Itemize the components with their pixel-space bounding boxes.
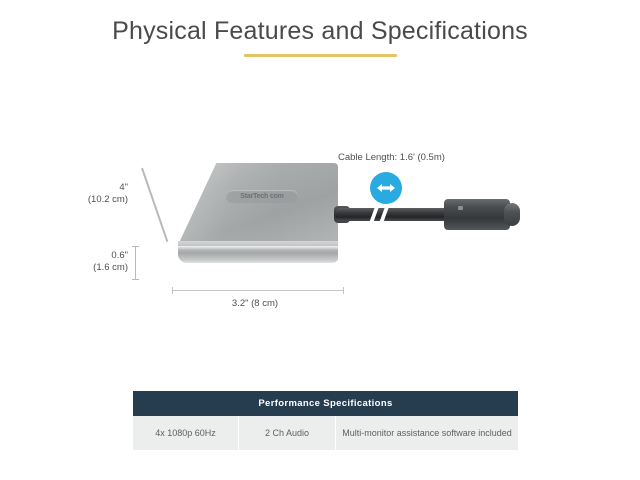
- dimension-height-leader-line: [141, 168, 168, 242]
- usb-c-connector-housing: [444, 199, 510, 230]
- dimension-depth-label: 0.6" (1.6 cm): [50, 250, 128, 274]
- spec-cell-audio: 2 Ch Audio: [239, 416, 336, 450]
- performance-specifications-table: Performance Specifications 4x 1080p 60Hz…: [133, 391, 518, 450]
- cable-length-badge: [370, 172, 402, 204]
- spec-cell-software: Multi-monitor assistance software includ…: [336, 416, 518, 450]
- page-title: Physical Features and Specifications: [0, 18, 640, 46]
- cable-break-marks: [363, 201, 399, 229]
- dimension-width-leader-line: [172, 290, 344, 291]
- logo-text-suffix: com: [270, 193, 284, 200]
- title-accent-underline: [244, 54, 397, 57]
- dimension-height-metric: (10.2 cm): [50, 194, 128, 206]
- adapter-hub-body: StarTech.com: [178, 163, 338, 263]
- logo-text-main: StarTech: [240, 193, 268, 200]
- hub-front-face: [178, 241, 338, 263]
- page-root: Physical Features and Specifications 4" …: [0, 0, 640, 480]
- spec-table-header: Performance Specifications: [133, 391, 518, 416]
- hub-front-highlight: [178, 246, 338, 250]
- usb-c-connector-marking: [458, 206, 463, 210]
- spec-table-row: 4x 1080p 60Hz 2 Ch Audio Multi-monitor a…: [133, 416, 518, 450]
- dimension-height-imperial: 4": [50, 182, 128, 194]
- cable-length-label: Cable Length: 1.6' (0.5m): [338, 152, 445, 163]
- dimension-depth-leader-line: [135, 246, 136, 280]
- page-header: Physical Features and Specifications: [0, 18, 640, 57]
- dimension-depth-imperial: 0.6": [50, 250, 128, 262]
- dimension-width-label: 3.2" (8 cm): [165, 298, 345, 310]
- dimension-depth-metric: (1.6 cm): [50, 262, 128, 274]
- startech-logo-badge: StarTech.com: [226, 190, 298, 203]
- hub-top-highlight: [178, 163, 338, 245]
- spec-cell-resolution: 4x 1080p 60Hz: [133, 416, 239, 450]
- dimension-height-label: 4" (10.2 cm): [50, 182, 128, 206]
- usb-c-connector-tip: [504, 203, 520, 226]
- startech-logo-text: StarTech.com: [240, 193, 283, 200]
- product-illustration: 4" (10.2 cm) 0.6" (1.6 cm) StarTech.com: [0, 100, 640, 340]
- double-arrow-horizontal-icon: [376, 182, 396, 194]
